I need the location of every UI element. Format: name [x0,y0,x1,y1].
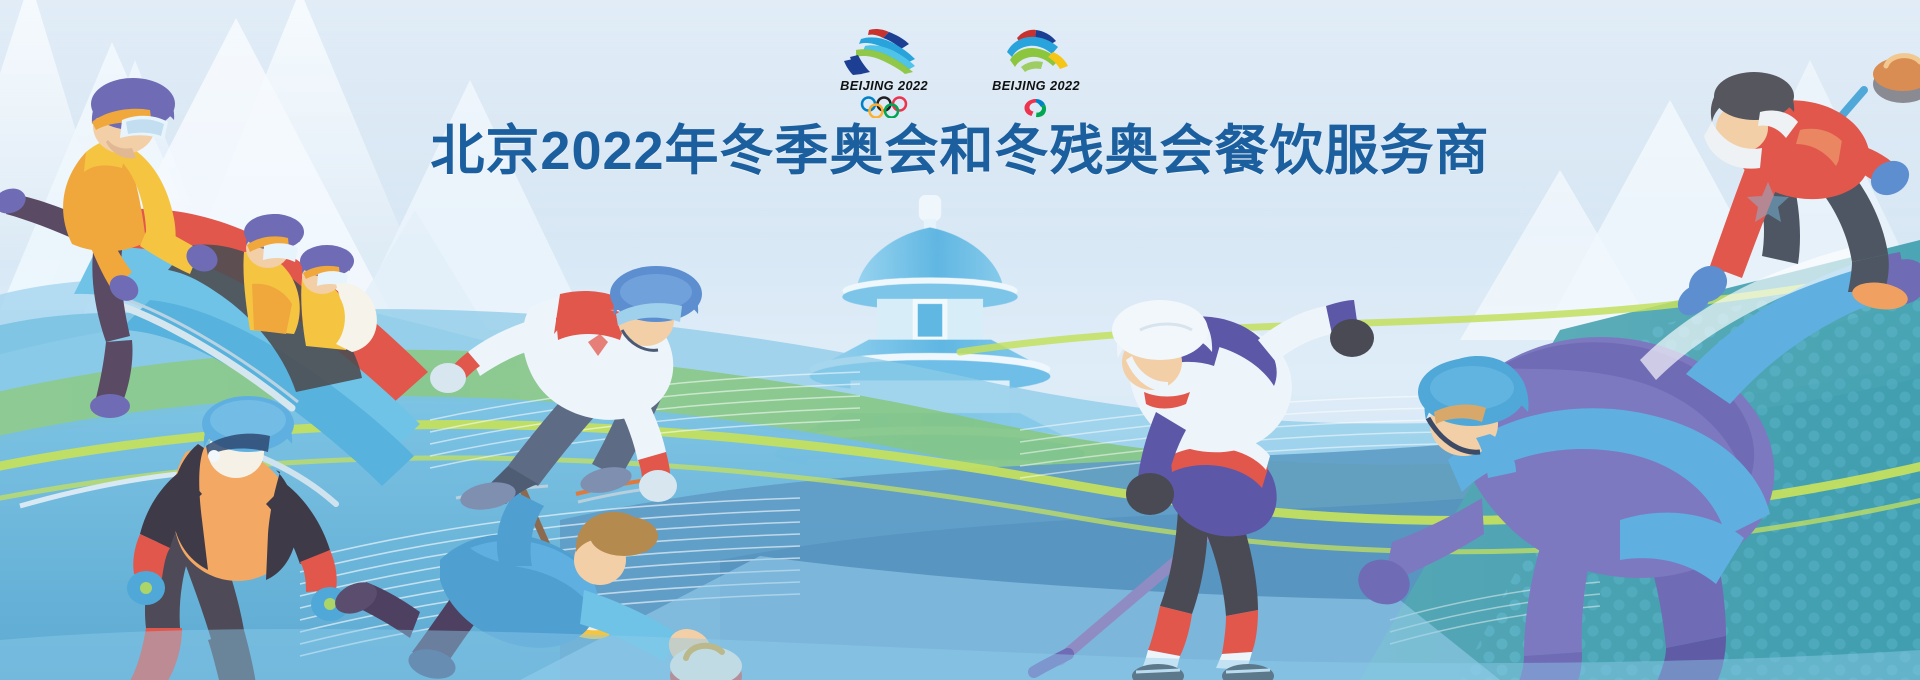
beijing-2022-winter-paralympics-emblem [991,26,1081,76]
olympic-logo-unit[interactable]: BEIJING 2022 [832,26,936,118]
olympic-wordmark: BEIJING 2022 [840,79,928,93]
beijing-2022-winter-olympics-emblem [839,26,929,76]
winter-sports-illustration [0,0,1920,680]
olympic-rings-icon [846,96,922,118]
paralympic-agitos-icon [1007,96,1065,118]
beijing-2022-catering-banner: BEIJING 2022 BEIJING 20 [0,0,1920,680]
paralympic-logo-unit[interactable]: BEIJING 2022 [984,26,1088,118]
paralympic-wordmark: BEIJING 2022 [992,79,1080,93]
